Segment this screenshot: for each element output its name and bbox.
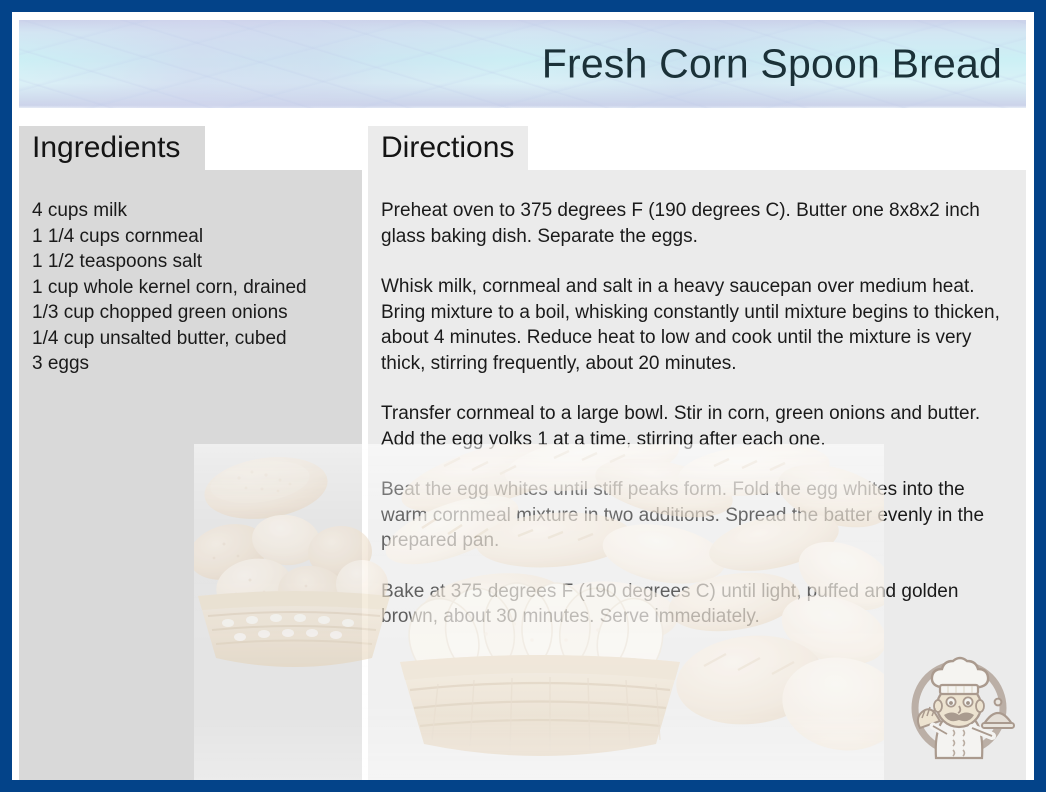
ingredients-heading-tab: Ingredients: [19, 126, 205, 170]
recipe-card: Fresh Corn Spoon Bread Ingredients 4 cup…: [0, 0, 1046, 792]
directions-heading: Directions: [381, 133, 514, 163]
direction-step: Whisk milk, cornmeal and salt in a heavy…: [381, 274, 1008, 376]
recipe-title: Fresh Corn Spoon Bread: [542, 41, 1002, 86]
directions-heading-tab: Directions: [368, 126, 528, 170]
ingredient-item: 3 eggs: [32, 351, 350, 377]
ingredients-list: 4 cups milk1 1/4 cups cornmeal1 1/2 teas…: [32, 198, 350, 377]
ingredient-item: 1/3 cup chopped green onions: [32, 300, 350, 326]
directions-step-list: Preheat oven to 375 degrees F (190 degre…: [381, 198, 1008, 630]
direction-step: Preheat oven to 375 degrees F (190 degre…: [381, 198, 1008, 249]
ingredients-panel: Ingredients 4 cups milk1 1/4 cups cornme…: [19, 126, 362, 789]
ingredient-item: 4 cups milk: [32, 198, 350, 224]
ingredient-item: 1 1/2 teaspoons salt: [32, 249, 350, 275]
card-inner: Fresh Corn Spoon Bread Ingredients 4 cup…: [12, 12, 1034, 780]
title-banner: Fresh Corn Spoon Bread: [19, 20, 1026, 108]
ingredient-item: 1/4 cup unsalted butter, cubed: [32, 326, 350, 352]
ingredients-body: 4 cups milk1 1/4 cups cornmeal1 1/2 teas…: [19, 198, 362, 377]
direction-step: Beat the egg whites until stiff peaks fo…: [381, 477, 1008, 554]
ingredient-item: 1 cup whole kernel corn, drained: [32, 275, 350, 301]
ingredient-item: 1 1/4 cups cornmeal: [32, 224, 350, 250]
direction-step: Transfer cornmeal to a large bowl. Stir …: [381, 401, 1008, 452]
direction-step: Bake at 375 degrees F (190 degrees C) un…: [381, 579, 1008, 630]
directions-panel: Directions Preheat oven to 375 degrees F…: [368, 126, 1026, 789]
ingredients-heading: Ingredients: [32, 133, 180, 163]
directions-body: Preheat oven to 375 degrees F (190 degre…: [368, 198, 1026, 630]
